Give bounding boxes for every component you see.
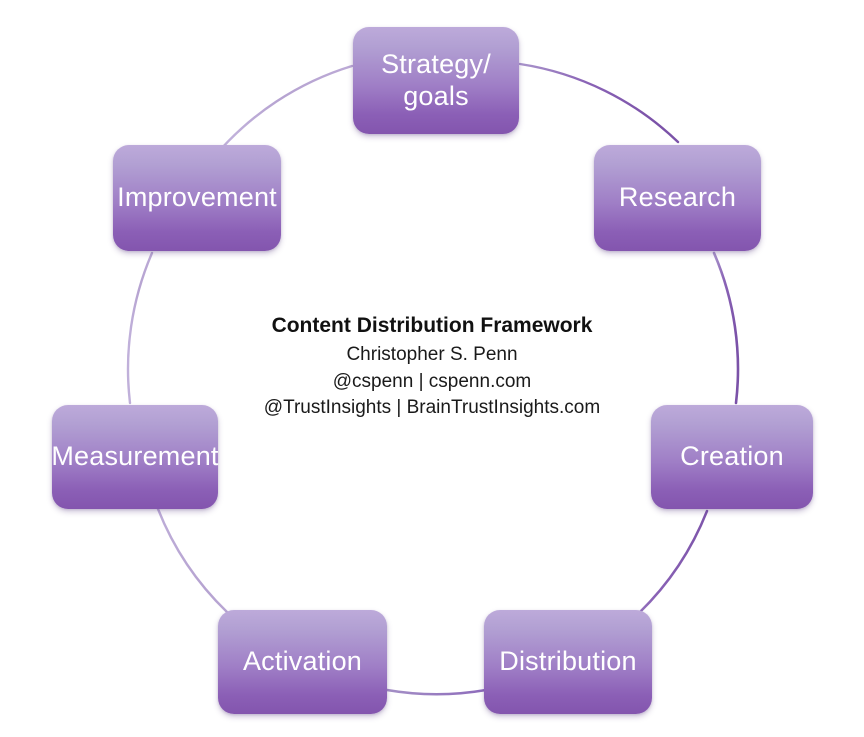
node-measurement[interactable]: Measurement <box>52 405 218 509</box>
diagram-title: Content Distribution Framework <box>232 312 632 339</box>
handles-line-company: @TrustInsights | BrainTrustInsights.com <box>232 395 632 421</box>
arc-creation-distribution <box>639 511 707 613</box>
center-caption: Content Distribution Framework Christoph… <box>232 312 632 421</box>
node-creation-label: Creation <box>680 441 784 473</box>
diagram-canvas: Strategy/ goals Research Creation Distri… <box>0 0 864 737</box>
author-name: Christopher S. Penn <box>232 342 632 368</box>
node-activation-label: Activation <box>243 646 362 678</box>
node-creation[interactable]: Creation <box>651 405 813 509</box>
node-distribution[interactable]: Distribution <box>484 610 652 714</box>
arc-improvement-strategy <box>214 66 352 157</box>
arc-research-creation <box>714 253 738 403</box>
arc-strategy-research <box>520 64 678 142</box>
node-research[interactable]: Research <box>594 145 761 251</box>
arc-activation-measurement <box>158 509 227 612</box>
arc-measurement-improvement <box>128 253 152 403</box>
node-measurement-label: Measurement <box>51 441 218 473</box>
node-strategy[interactable]: Strategy/ goals <box>353 27 519 134</box>
node-distribution-label: Distribution <box>499 646 636 678</box>
node-improvement-label: Improvement <box>117 182 277 214</box>
handles-line-personal: @cspenn | cspenn.com <box>232 369 632 395</box>
node-research-label: Research <box>619 182 736 214</box>
arc-distribution-activation <box>387 690 486 694</box>
node-strategy-label: Strategy/ goals <box>381 49 491 113</box>
node-improvement[interactable]: Improvement <box>113 145 281 251</box>
node-activation[interactable]: Activation <box>218 610 387 714</box>
